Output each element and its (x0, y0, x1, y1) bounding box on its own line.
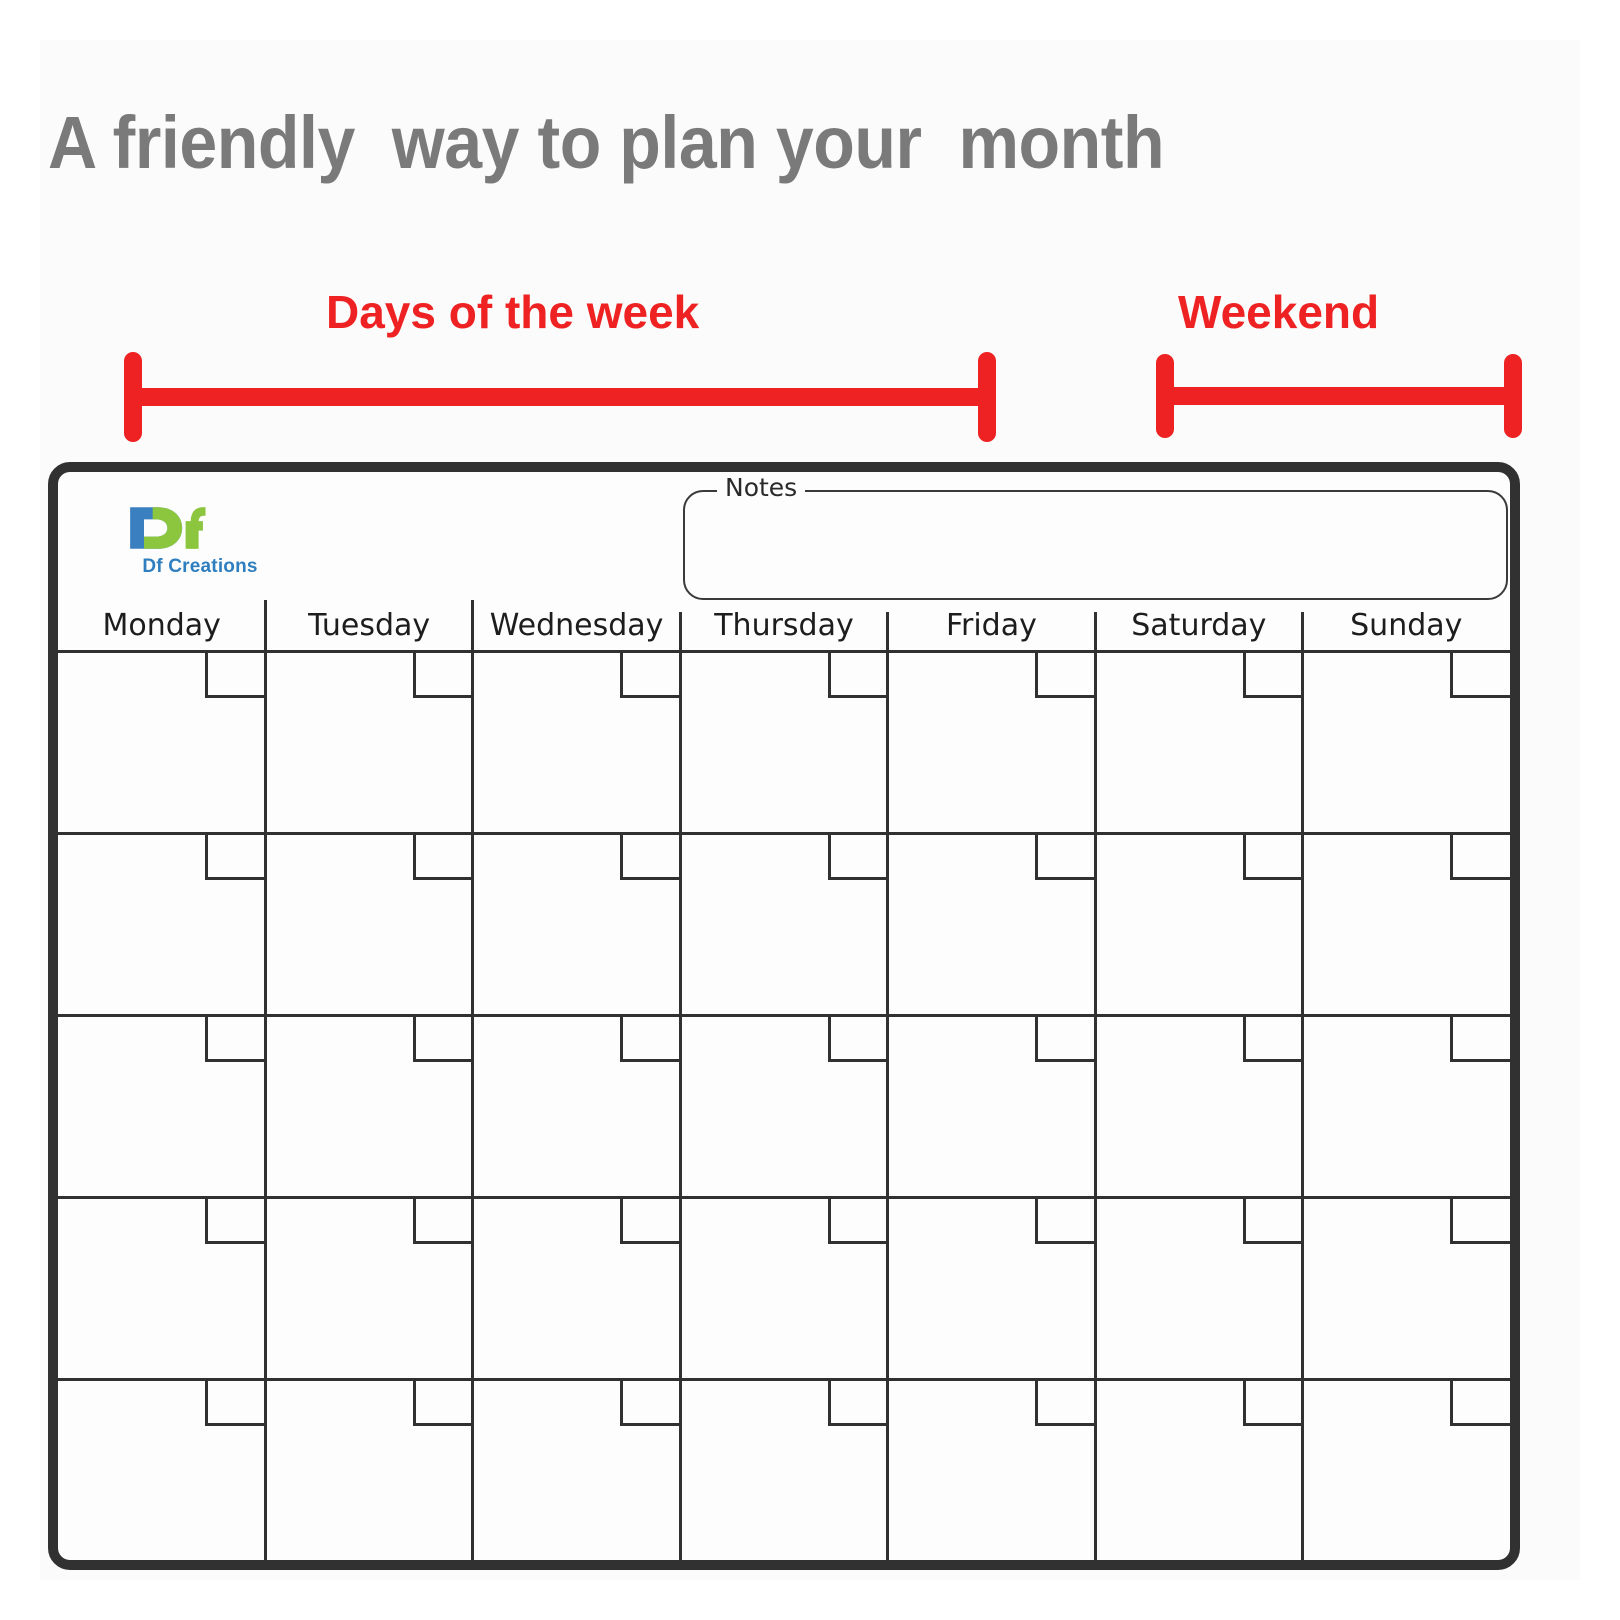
bracket-cap-right (1504, 354, 1522, 438)
date-number-box[interactable] (620, 1014, 680, 1062)
date-number-box[interactable] (1243, 650, 1303, 698)
day-header-wednesday: Wednesday (473, 606, 680, 646)
date-number-box[interactable] (205, 1014, 265, 1062)
brand-logo: Df Creations (110, 502, 290, 578)
date-number-box[interactable] (1243, 1378, 1303, 1426)
day-header-saturday: Saturday (1095, 606, 1302, 646)
date-number-box[interactable] (620, 650, 680, 698)
date-number-box[interactable] (1450, 832, 1510, 880)
calendar-inner: Df Creations Notes MondayTuesdayWednesda… (58, 472, 1510, 1560)
date-number-box[interactable] (1450, 1014, 1510, 1062)
date-number-box[interactable] (620, 832, 680, 880)
bracket-bar (124, 388, 996, 406)
day-header-thursday: Thursday (680, 606, 887, 646)
day-header-friday: Friday (888, 606, 1095, 646)
bracket-cap-right (978, 352, 996, 442)
date-number-box[interactable] (205, 650, 265, 698)
calendar-infographic: A friendly way to plan your month Days o… (0, 0, 1620, 1620)
day-header-row: MondayTuesdayWednesdayThursdayFridaySatu… (58, 602, 1510, 650)
date-number-box[interactable] (413, 832, 473, 880)
df-monogram-icon (110, 502, 230, 554)
date-number-box[interactable] (828, 1014, 888, 1062)
page-title: A friendly way to plan your month (48, 98, 1391, 188)
date-number-box[interactable] (1035, 1378, 1095, 1426)
date-number-box[interactable] (205, 1196, 265, 1244)
date-number-box[interactable] (1035, 1196, 1095, 1244)
date-number-box[interactable] (620, 1378, 680, 1426)
bracket-bar (1156, 387, 1522, 405)
date-number-box[interactable] (1035, 650, 1095, 698)
date-number-box[interactable] (1243, 832, 1303, 880)
date-number-box[interactable] (413, 1378, 473, 1426)
date-number-box[interactable] (205, 1378, 265, 1426)
date-number-box[interactable] (1035, 832, 1095, 880)
date-number-box[interactable] (1035, 1014, 1095, 1062)
annotation-bracket-weekdays (124, 352, 996, 442)
date-number-box[interactable] (620, 1196, 680, 1244)
day-header-monday: Monday (58, 606, 265, 646)
notes-writing-surface[interactable] (685, 492, 1506, 598)
date-number-box[interactable] (828, 832, 888, 880)
date-number-box[interactable] (413, 1196, 473, 1244)
annotation-bracket-weekend (1156, 354, 1522, 438)
date-number-box[interactable] (1450, 650, 1510, 698)
bracket-cap-left (1156, 354, 1174, 438)
date-number-box[interactable] (828, 650, 888, 698)
day-header-tuesday: Tuesday (265, 606, 472, 646)
date-number-box[interactable] (1243, 1196, 1303, 1244)
notes-box[interactable]: Notes (683, 490, 1508, 600)
monthly-calendar: Df Creations Notes MondayTuesdayWednesda… (48, 462, 1520, 1570)
date-number-box[interactable] (1243, 1014, 1303, 1062)
brand-name: Df Creations (110, 556, 290, 578)
date-number-box[interactable] (413, 650, 473, 698)
date-number-box[interactable] (828, 1378, 888, 1426)
date-number-box[interactable] (828, 1196, 888, 1244)
bracket-cap-left (124, 352, 142, 442)
annotation-label-weekend: Weekend (1178, 286, 1379, 338)
annotation-label-weekdays: Days of the week (326, 286, 699, 338)
date-number-box[interactable] (1450, 1196, 1510, 1244)
day-header-sunday: Sunday (1303, 606, 1510, 646)
date-number-box[interactable] (205, 832, 265, 880)
date-number-box[interactable] (1450, 1378, 1510, 1426)
date-number-box[interactable] (413, 1014, 473, 1062)
